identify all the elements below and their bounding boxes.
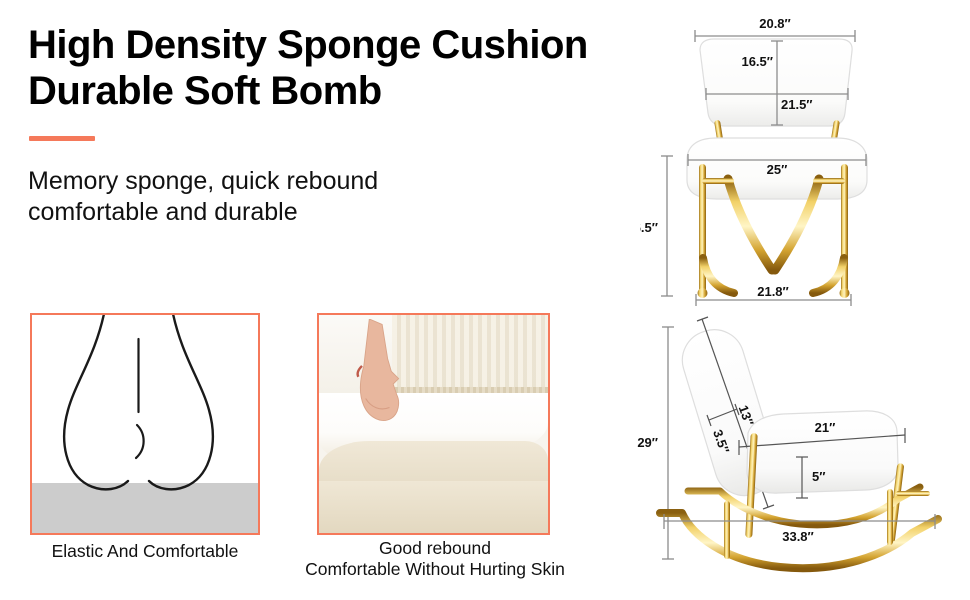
dim-label-seat-height: 16.5″ bbox=[640, 220, 658, 235]
feature-panel-rebound bbox=[317, 313, 550, 535]
infographic-canvas: High Density Sponge Cushion Durable Soft… bbox=[0, 0, 970, 600]
hand-pressing-memory-foam-photo bbox=[319, 315, 548, 533]
rocker-stub-bar bbox=[896, 491, 930, 496]
crossbar-left bbox=[702, 178, 734, 184]
caption-rebound-line-1: Good rebound bbox=[379, 538, 491, 558]
page-subtitle: Memory sponge, quick rebound comfortable… bbox=[28, 166, 528, 228]
crossbar-right bbox=[813, 178, 845, 184]
foot-cap-left bbox=[698, 288, 708, 298]
caption-elastic: Elastic And Comfortable bbox=[14, 541, 276, 562]
dim-seat-height bbox=[661, 156, 673, 296]
caption-rebound: Good rebound Comfortable Without Hurting… bbox=[280, 538, 590, 580]
photo-foam-slab-lower bbox=[319, 481, 548, 533]
dim-label-base-width: 21.8″ bbox=[757, 284, 789, 299]
backrest-cushion bbox=[700, 39, 852, 126]
headline-line-1: High Density Sponge Cushion bbox=[28, 23, 588, 67]
caption-rebound-line-2: Comfortable Without Hurting Skin bbox=[280, 559, 590, 580]
rocker-connector-left bbox=[724, 501, 730, 559]
photo-hand bbox=[351, 319, 406, 445]
seated-posture-line-drawing bbox=[32, 315, 258, 533]
subhead-line-1: Memory sponge, quick rebound bbox=[28, 167, 378, 195]
rocker-curve-right bbox=[813, 258, 844, 293]
dim-label-rocker-length: 33.8″ bbox=[782, 529, 814, 544]
dim-label-seat-width: 25″ bbox=[767, 162, 788, 177]
feature-panel-elastic bbox=[30, 313, 260, 535]
dim-label-total-height: 29″ bbox=[637, 435, 658, 450]
page-title: High Density Sponge Cushion Durable Soft… bbox=[28, 22, 688, 114]
dim-label-back-width-low: 21.5″ bbox=[781, 97, 813, 112]
dim-label-cushion-height: 5″ bbox=[812, 469, 825, 484]
foot-cap-right bbox=[840, 288, 850, 298]
subhead-line-2: comfortable and durable bbox=[28, 197, 528, 228]
rocker-connector-right bbox=[887, 489, 893, 545]
caption-elastic-line-1: Elastic And Comfortable bbox=[52, 541, 239, 561]
dim-label-seat-depth: 21″ bbox=[815, 420, 836, 435]
front-view-rocking-chair: 20.8″ 16.5″ 21.5″ bbox=[640, 8, 970, 310]
headline-line-2: Durable Soft Bomb bbox=[28, 68, 688, 114]
side-view-rocking-chair: 29″ 13″ 3.5″ bbox=[620, 305, 970, 597]
accent-divider bbox=[29, 136, 95, 141]
dim-label-back-height: 16.5″ bbox=[741, 54, 773, 69]
dim-label-back-width-top: 20.8″ bbox=[759, 16, 791, 31]
rocker-curve-left bbox=[703, 258, 734, 293]
